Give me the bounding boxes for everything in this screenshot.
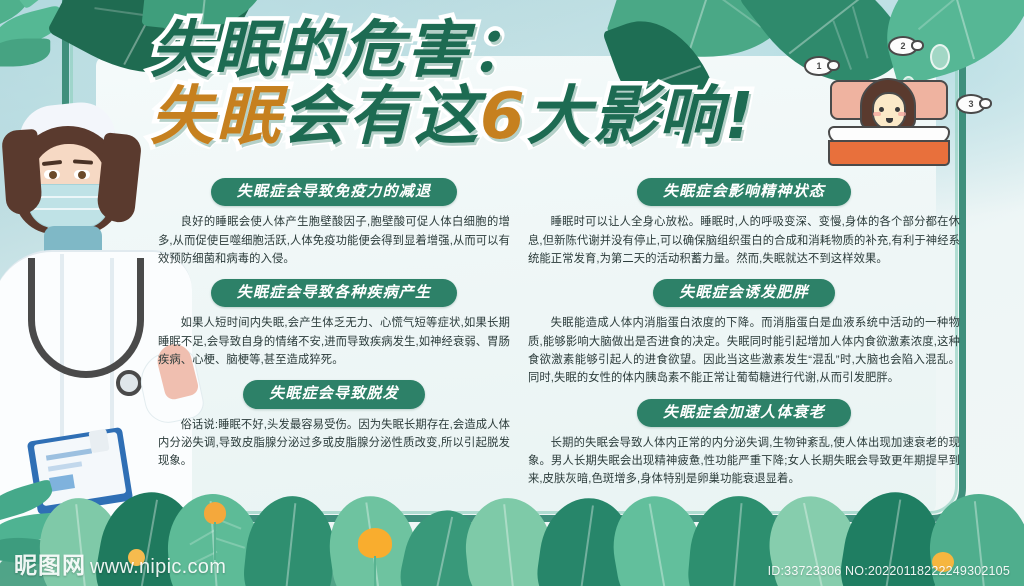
section-block: 失眠症会影响精神状态 睡眠时可以让人全身心放松。睡眠时,人的呼吸变深、变慢,身体… xyxy=(528,178,960,268)
section-body-text: 俗话说:睡眠不好,头发最容易受伤。因为失眠长期存在,会造成人体内分泌失调,导致皮… xyxy=(158,416,510,471)
title-highlight-number: 6 xyxy=(480,85,527,150)
title-line-2-end: 大影响! xyxy=(527,85,756,150)
watermark-url: www.nipic.com xyxy=(90,556,226,579)
blush-icon xyxy=(873,112,881,116)
title-line-1-text: 失眠的危害： xyxy=(150,18,534,81)
poster-title: 失眠的危害： 失眠会有这6大影响! xyxy=(150,18,850,151)
section-heading-row: 失眠症会影响精神状态 xyxy=(528,178,960,206)
section-heading-row: 失眠症会加速人体衰老 xyxy=(528,399,960,427)
left-column: 失眠症会导致免疫力的减退 良好的睡眠会使人体产生胞壁酸因子,胞壁酸可促人体白细胞… xyxy=(158,178,510,481)
bubble-icon xyxy=(930,44,950,70)
flower-stem xyxy=(374,556,376,586)
title-line-2-mid: 会有这 xyxy=(282,85,480,150)
stethoscope-icon xyxy=(28,258,144,378)
eye-pupil-icon xyxy=(49,171,57,179)
section-heading-row: 失眠症会导致脱发 xyxy=(158,380,510,408)
watermark: 昵图网 www.nipic.com xyxy=(14,546,226,580)
sheep-icon: 3 xyxy=(956,94,986,114)
section-heading-pill: 失眠症会导致脱发 xyxy=(243,380,425,408)
sheep-number: 2 xyxy=(900,41,905,51)
section-body-text: 良好的睡眠会使人体产生胞壁酸因子,胞壁酸可促人体白细胞的增多,从而促使巨噬细胞活… xyxy=(158,213,510,268)
section-block: 失眠症会诱发肥胖 失眠能造成人体内消脂蛋白浓度的下降。而消脂蛋白是血液系统中活动… xyxy=(528,279,960,387)
section-heading-row: 失眠症会导致各种疾病产生 xyxy=(158,279,510,307)
section-heading-pill: 失眠症会加速人体衰老 xyxy=(637,399,851,427)
hair-side-shape xyxy=(96,132,143,223)
watermark-site-name: 昵图网 xyxy=(14,546,86,580)
title-highlight-insomnia: 失眠 xyxy=(150,85,282,150)
section-heading-pill: 失眠症会导致免疫力的减退 xyxy=(211,178,457,206)
title-line-2: 失眠会有这6大影响! xyxy=(150,85,850,150)
section-heading-row: 失眠症会导致免疫力的减退 xyxy=(158,178,510,206)
tulip-flower-icon xyxy=(204,502,226,524)
sheep-number: 3 xyxy=(968,99,973,109)
section-body-text: 如果人短时间内失眠,会产生体乏无力、心慌气短等症状,如果长期睡眠不足,会导致自身… xyxy=(158,314,510,369)
right-column: 失眠症会影响精神状态 睡眠时可以让人全身心放松。睡眠时,人的呼吸变深、变慢,身体… xyxy=(528,178,960,500)
section-heading-row: 失眠症会诱发肥胖 xyxy=(528,279,960,307)
poster-canvas: 失眠的危害： 失眠会有这6大影响! 1 2 3 xyxy=(0,0,1024,586)
section-heading-pill: 失眠症会诱发肥胖 xyxy=(653,279,835,307)
section-block: 失眠症会导致脱发 俗话说:睡眠不好,头发最容易受伤。因为失眠长期存在,会造成人体… xyxy=(158,380,510,470)
sheep-icon: 2 xyxy=(888,36,918,56)
tulip-flower-icon xyxy=(358,528,392,558)
stethoscope-bell-icon xyxy=(116,370,142,396)
blush-icon xyxy=(898,112,906,116)
section-heading-pill: 失眠症会导致各种疾病产生 xyxy=(211,279,457,307)
eye-pupil-icon xyxy=(78,171,86,179)
clipboard-clip xyxy=(88,429,109,454)
face-shape xyxy=(872,92,906,130)
title-line-1: 失眠的危害： xyxy=(150,18,850,81)
section-body-text: 失眠能造成人体内消脂蛋白浓度的下降。而消脂蛋白是血液系统中活动的一种物质,能够影… xyxy=(528,314,960,387)
section-body-text: 睡眠时可以让人全身心放松。睡眠时,人的呼吸变深、变慢,身体的各个部分都在休息,但… xyxy=(528,213,960,268)
image-id-text: ID:33723306 NO:20220118222249302105 xyxy=(768,564,1010,578)
mask-fold xyxy=(28,208,110,210)
hair-side-shape xyxy=(1,129,43,215)
section-block: 失眠症会导致各种疾病产生 如果人短时间内失眠,会产生体乏无力、心慌气短等症状,如… xyxy=(158,279,510,369)
section-heading-pill: 失眠症会影响精神状态 xyxy=(637,178,851,206)
section-block: 失眠症会导致免疫力的减退 良好的睡眠会使人体产生胞壁酸因子,胞壁酸可促人体白细胞… xyxy=(158,178,510,268)
